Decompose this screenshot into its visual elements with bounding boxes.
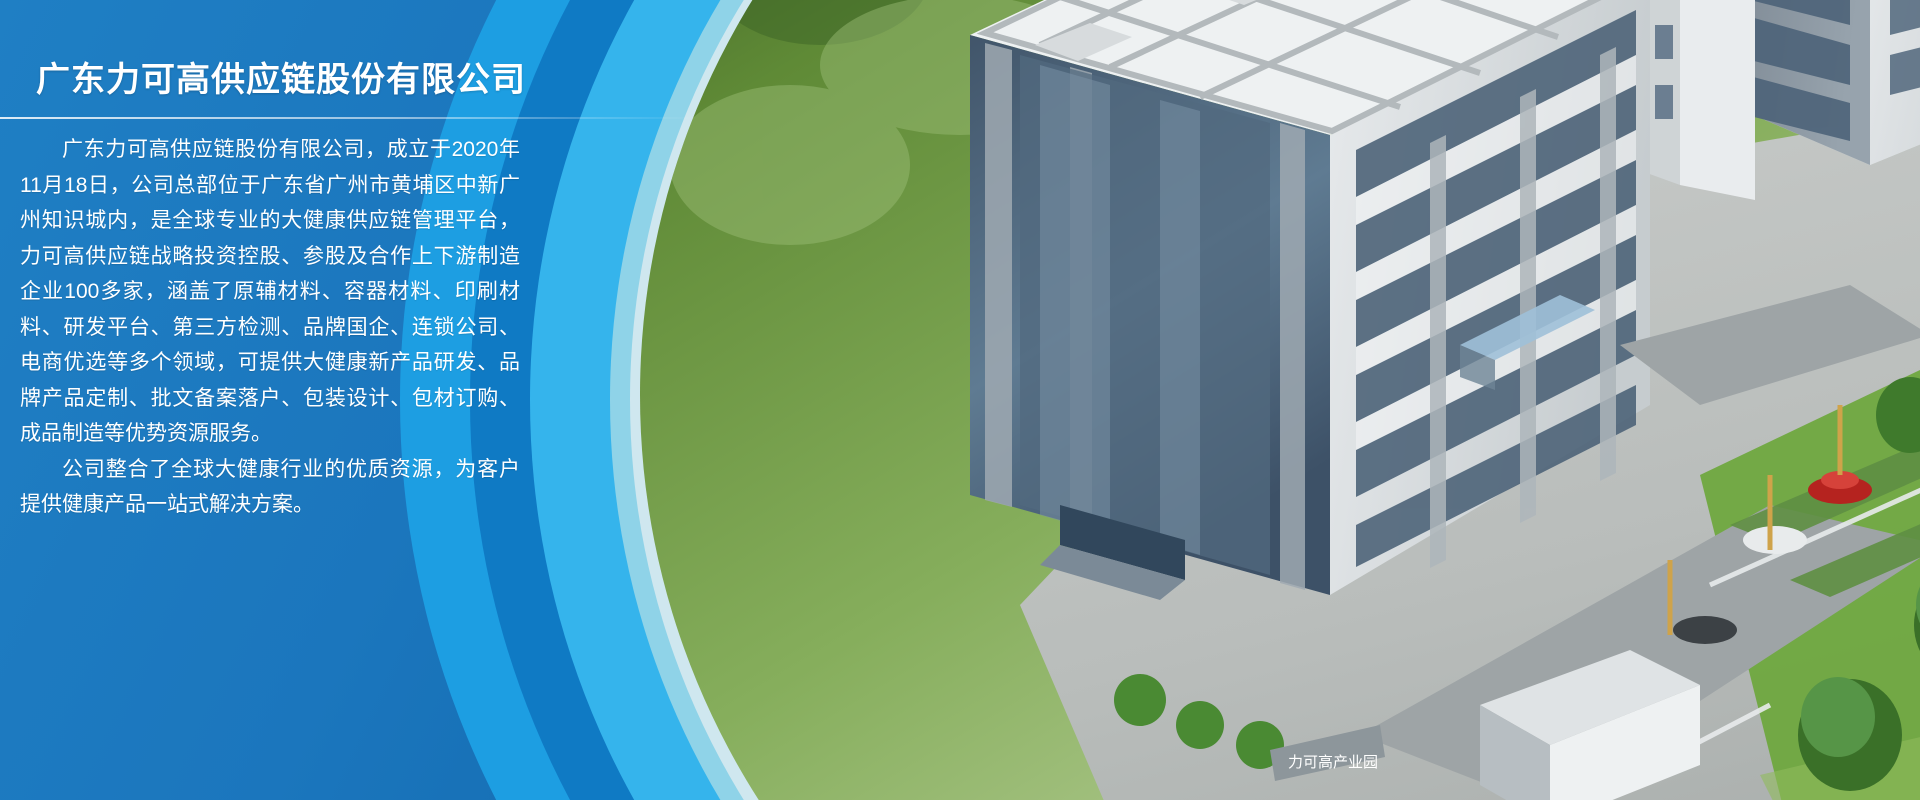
paragraph-company-services: 公司整合了全球大健康行业的优质资源，为客户提供健康产品一站式解决方案。 [20, 452, 520, 523]
intro-text-column: 广东力可高供应链股份有限公司 广东力可高供应链股份有限公司，成立于2020年11… [0, 0, 720, 800]
company-campus-photo: 力可高产业园 [640, 0, 1920, 800]
title-divider [0, 117, 700, 119]
page-title: 广东力可高供应链股份有限公司 [36, 52, 526, 101]
svg-text:力可高产业园: 力可高产业园 [1288, 754, 1378, 771]
company-description: 广东力可高供应链股份有限公司，成立于2020年11月18日，公司总部位于广东省广… [20, 132, 520, 523]
paragraph-company-profile: 广东力可高供应链股份有限公司，成立于2020年11月18日，公司总部位于广东省广… [20, 132, 520, 452]
company-intro-banner: 力可高产业园 广东力可高供应链股份有限公司 广东力可高供应链股份有限公司，成立于… [0, 0, 1920, 800]
